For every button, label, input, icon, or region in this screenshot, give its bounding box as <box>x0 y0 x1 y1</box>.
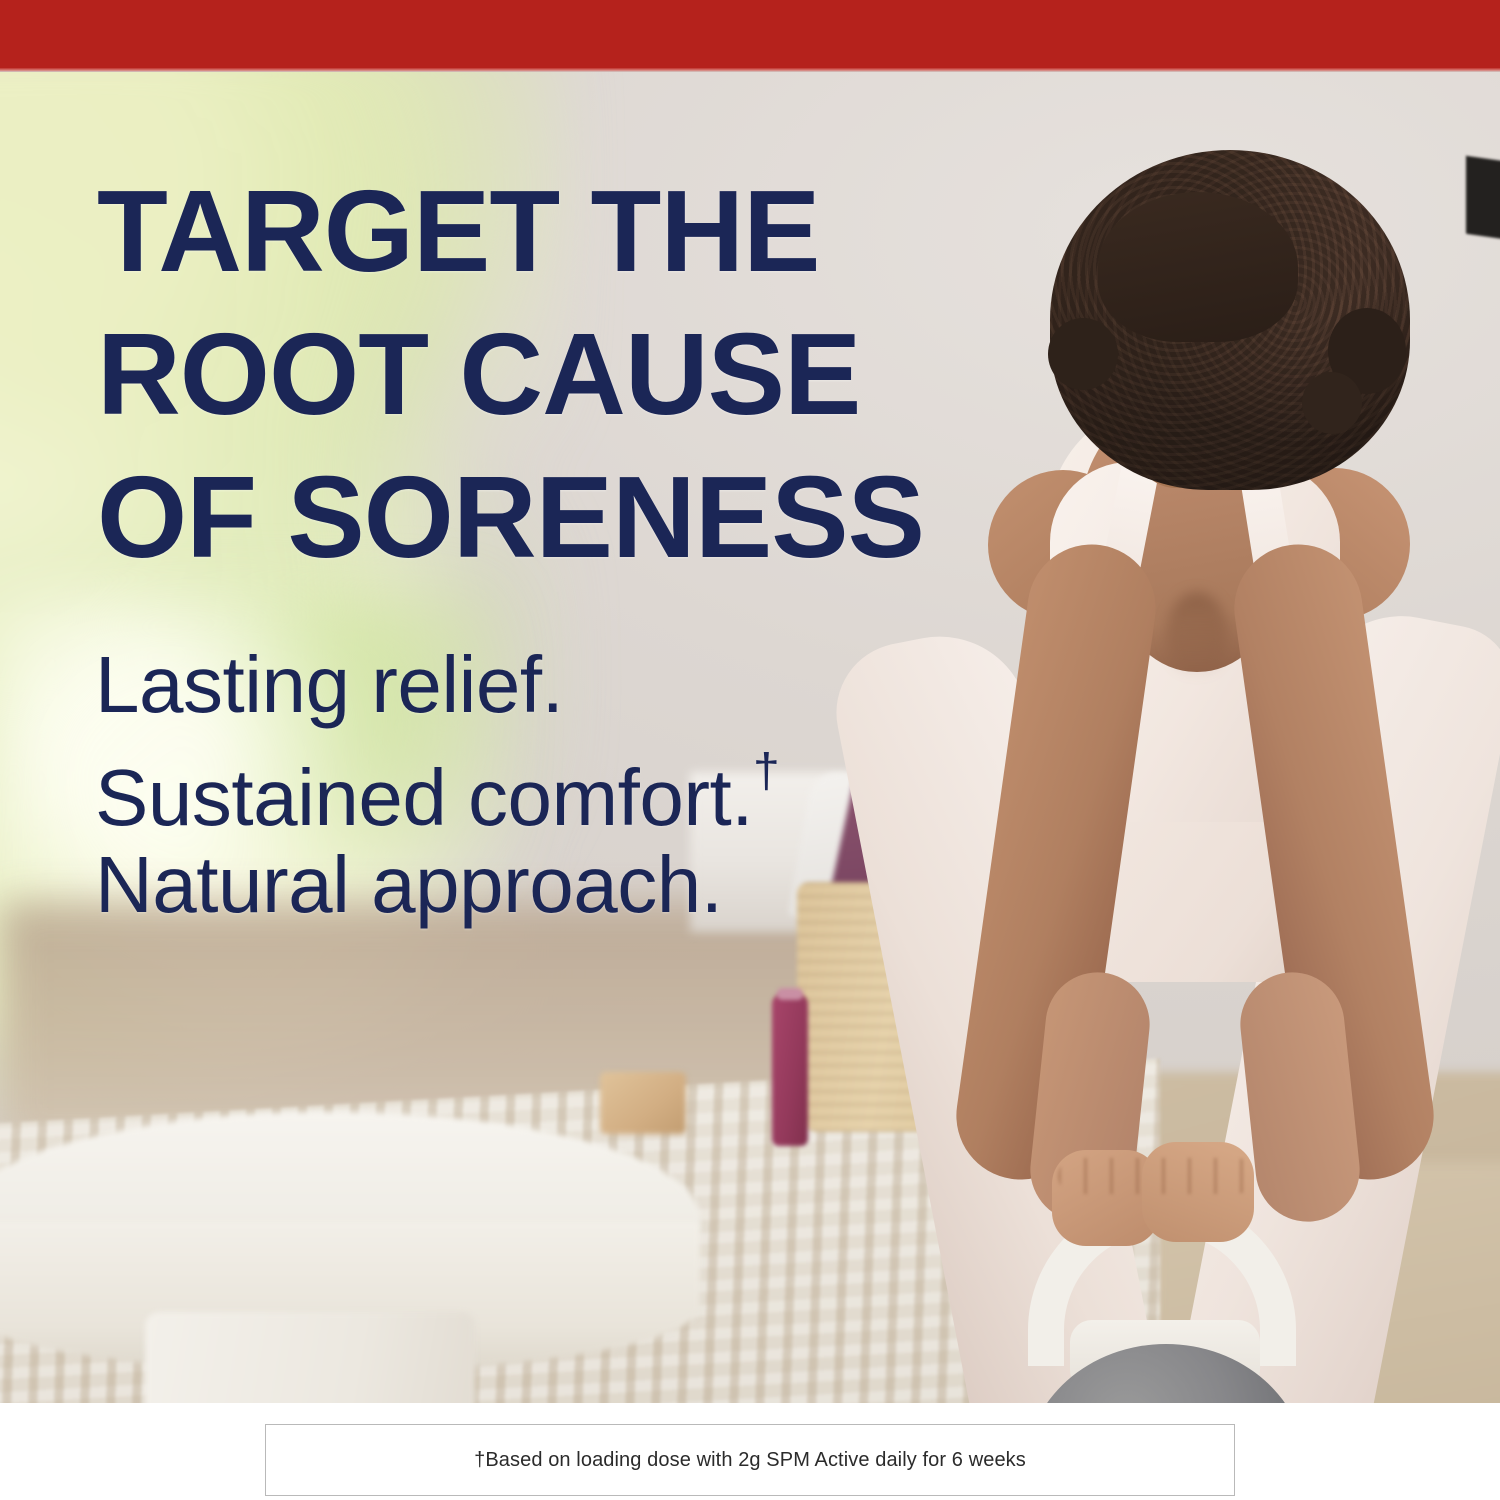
hair-front <box>1098 192 1298 342</box>
hair-curl-left <box>1048 318 1118 390</box>
chest-shadow <box>1166 592 1228 678</box>
subhead-line-1: Lasting relief. <box>95 640 563 729</box>
woman-figure <box>930 72 1500 1403</box>
footnote-box: †Based on loading dose with 2g SPM Activ… <box>265 1424 1235 1496</box>
knuckles <box>1058 1158 1254 1194</box>
subhead-line-2: Sustained comfort. <box>95 753 753 842</box>
water-bottle <box>772 994 808 1146</box>
top-red-banner <box>0 0 1500 72</box>
cork-yoga-block <box>600 1072 686 1134</box>
footnote-text: †Based on loading dose with 2g SPM Activ… <box>474 1449 1026 1472</box>
ad-canvas: TARGET THE ROOT CAUSE OF SORENESS Lastin… <box>0 0 1500 1500</box>
dagger-marker: † <box>753 745 779 798</box>
hair-curl-lower-right <box>1302 372 1362 434</box>
page-title: TARGET THE ROOT CAUSE OF SORENESS <box>97 160 924 589</box>
subhead-line-3: Natural approach. <box>95 840 722 929</box>
pedestal-table-stem <box>145 1312 475 1403</box>
water-bottle-cap <box>777 988 803 1000</box>
subheadline: Lasting relief. Sustained comfort.† Natu… <box>95 641 779 928</box>
